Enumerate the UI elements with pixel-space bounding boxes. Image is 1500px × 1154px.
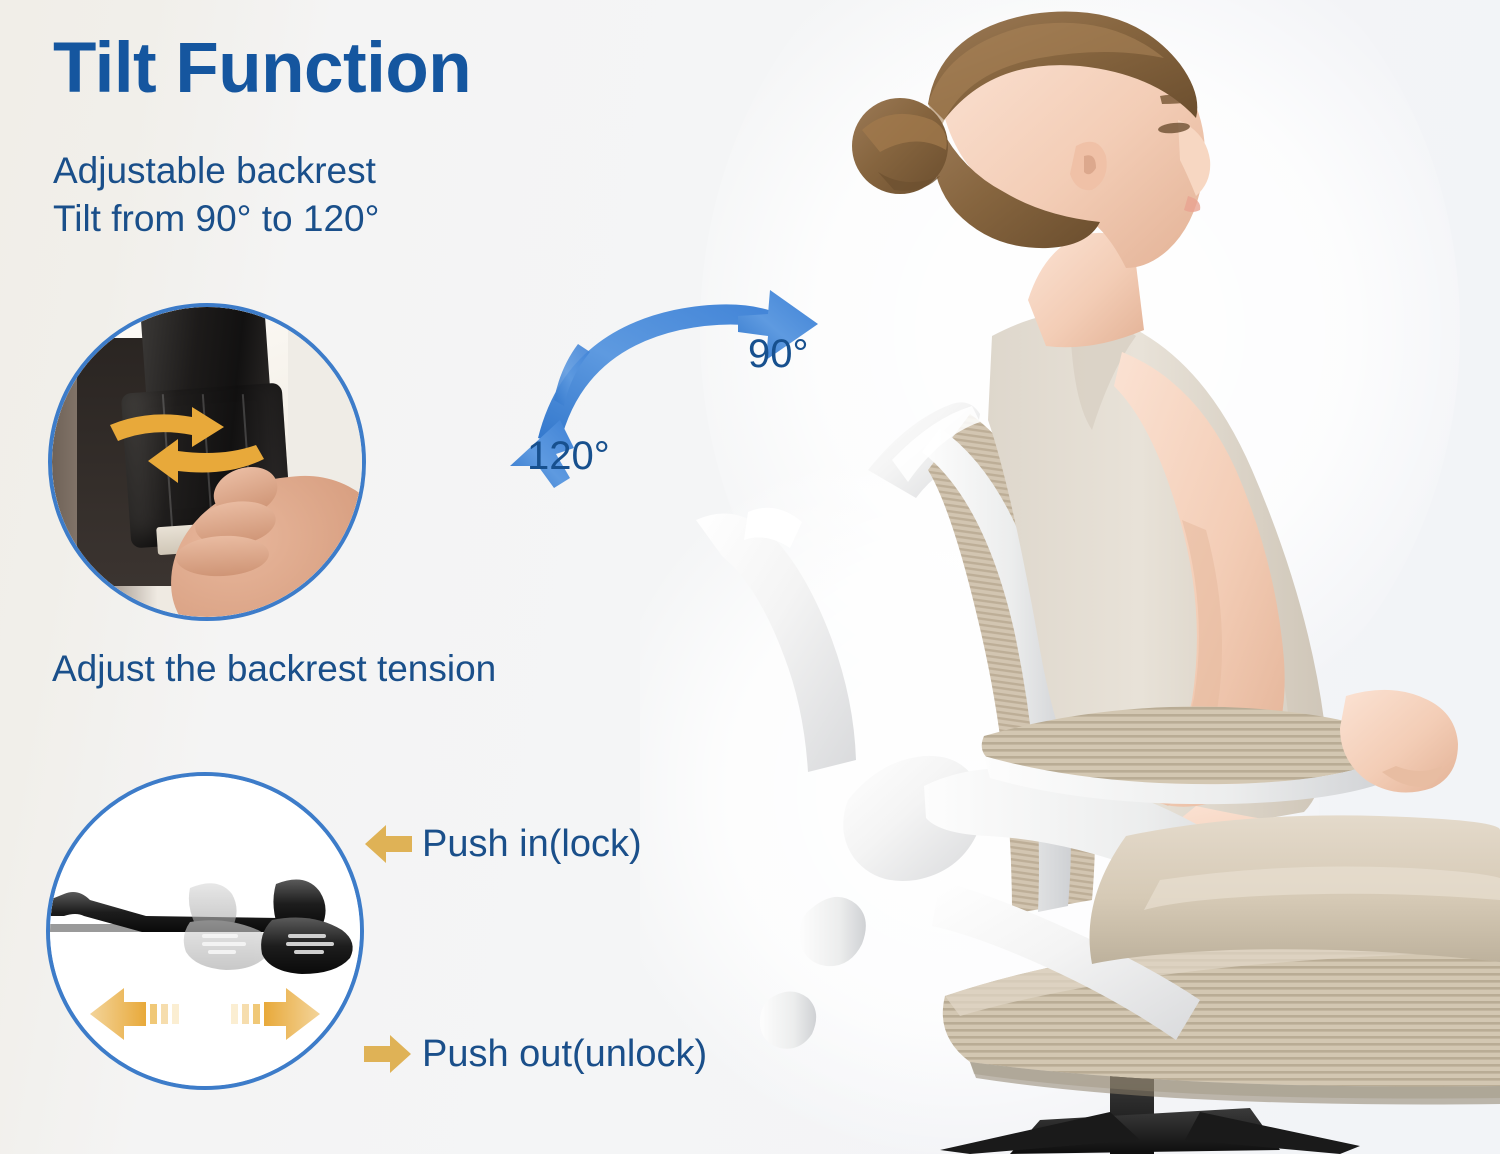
left-right-motion-arrow-icon (90, 988, 320, 1040)
model-legs (1090, 815, 1500, 964)
model-head (852, 11, 1210, 347)
page-title: Tilt Function (53, 33, 471, 104)
arrow-left-icon (362, 818, 414, 870)
callout-lock: Push in(lock) (362, 818, 642, 870)
arrow-right-icon (362, 1028, 414, 1080)
tilt-lever-inset (46, 772, 364, 1090)
tilt-lever-photo (50, 776, 360, 1086)
hero-photo (640, 0, 1500, 1154)
callout-unlock: Push out(unlock) (362, 1028, 707, 1080)
tension-caption: Adjust the backrest tension (52, 648, 496, 690)
hand-turning-knob-photo (52, 307, 362, 617)
double-rotation-arrow-icon (52, 307, 362, 617)
subtitle-line-1: Adjustable backrest (53, 148, 376, 193)
angle-label-120: 120° (527, 434, 610, 479)
tension-knob-inset (48, 303, 366, 621)
tilt-function-infographic: 90° 120° Tilt Function Adjustable backre… (0, 0, 1500, 1154)
callout-lock-label: Push in(lock) (422, 823, 642, 866)
callout-unlock-label: Push out(unlock) (422, 1033, 707, 1076)
angle-label-90: 90° (748, 332, 809, 377)
subtitle-line-2: Tilt from 90° to 120° (53, 196, 379, 241)
